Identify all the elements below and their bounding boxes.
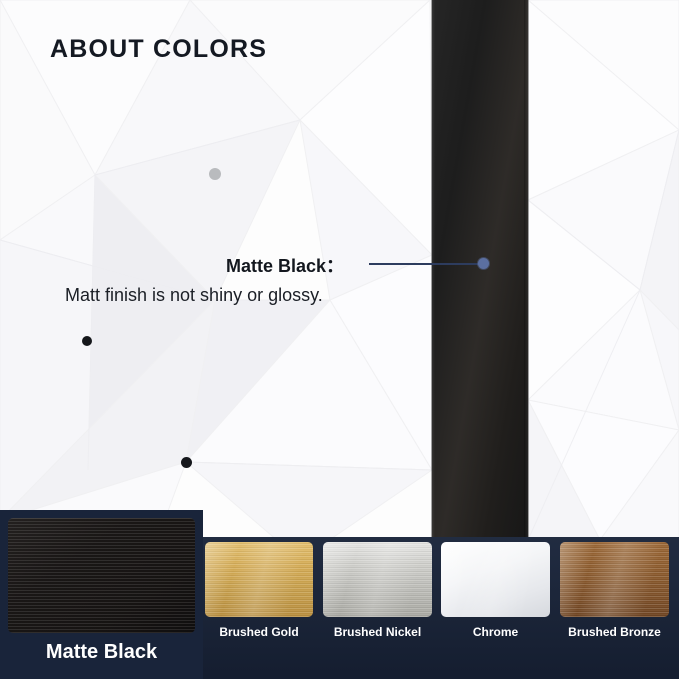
stripe-right-shadow bbox=[524, 0, 528, 537]
page-title: ABOUT COLORS bbox=[50, 35, 267, 64]
callout-label: Matte Black： bbox=[226, 252, 344, 278]
swatch-label-chrome: Chrome bbox=[433, 625, 558, 639]
swatch-sheen bbox=[323, 542, 432, 617]
swatch-sheen bbox=[560, 542, 669, 617]
stripe-left-highlight bbox=[432, 0, 435, 537]
swatch-matte-black[interactable] bbox=[8, 518, 195, 633]
swatch-texture bbox=[8, 518, 195, 633]
swatch-label-brushed-gold: Brushed Gold bbox=[197, 625, 321, 639]
swatch-sheen bbox=[441, 542, 550, 617]
callout-description: Matt finish is not shiny or glossy. bbox=[65, 285, 323, 306]
node-dot-dark-upper bbox=[82, 336, 92, 346]
matte-black-product-stripe bbox=[432, 0, 528, 537]
callout-leader-dot bbox=[478, 258, 489, 269]
callout-leader-line bbox=[369, 263, 483, 265]
about-colors-infographic: ABOUT COLORS Matte Black： Matt finish is… bbox=[0, 0, 679, 679]
swatch-chrome[interactable] bbox=[441, 542, 550, 617]
swatch-label-brushed-nickel: Brushed Nickel bbox=[315, 625, 440, 639]
swatch-brushed-nickel[interactable] bbox=[323, 542, 432, 617]
swatch-label-matte-black: Matte Black bbox=[8, 641, 195, 664]
node-dot-dark-lower bbox=[181, 457, 192, 468]
swatch-brushed-bronze[interactable] bbox=[560, 542, 669, 617]
node-dot-gray bbox=[209, 168, 221, 180]
swatch-brushed-gold[interactable] bbox=[205, 542, 313, 617]
swatch-sheen bbox=[205, 542, 313, 617]
swatch-label-brushed-bronze: Brushed Bronze bbox=[552, 625, 677, 639]
